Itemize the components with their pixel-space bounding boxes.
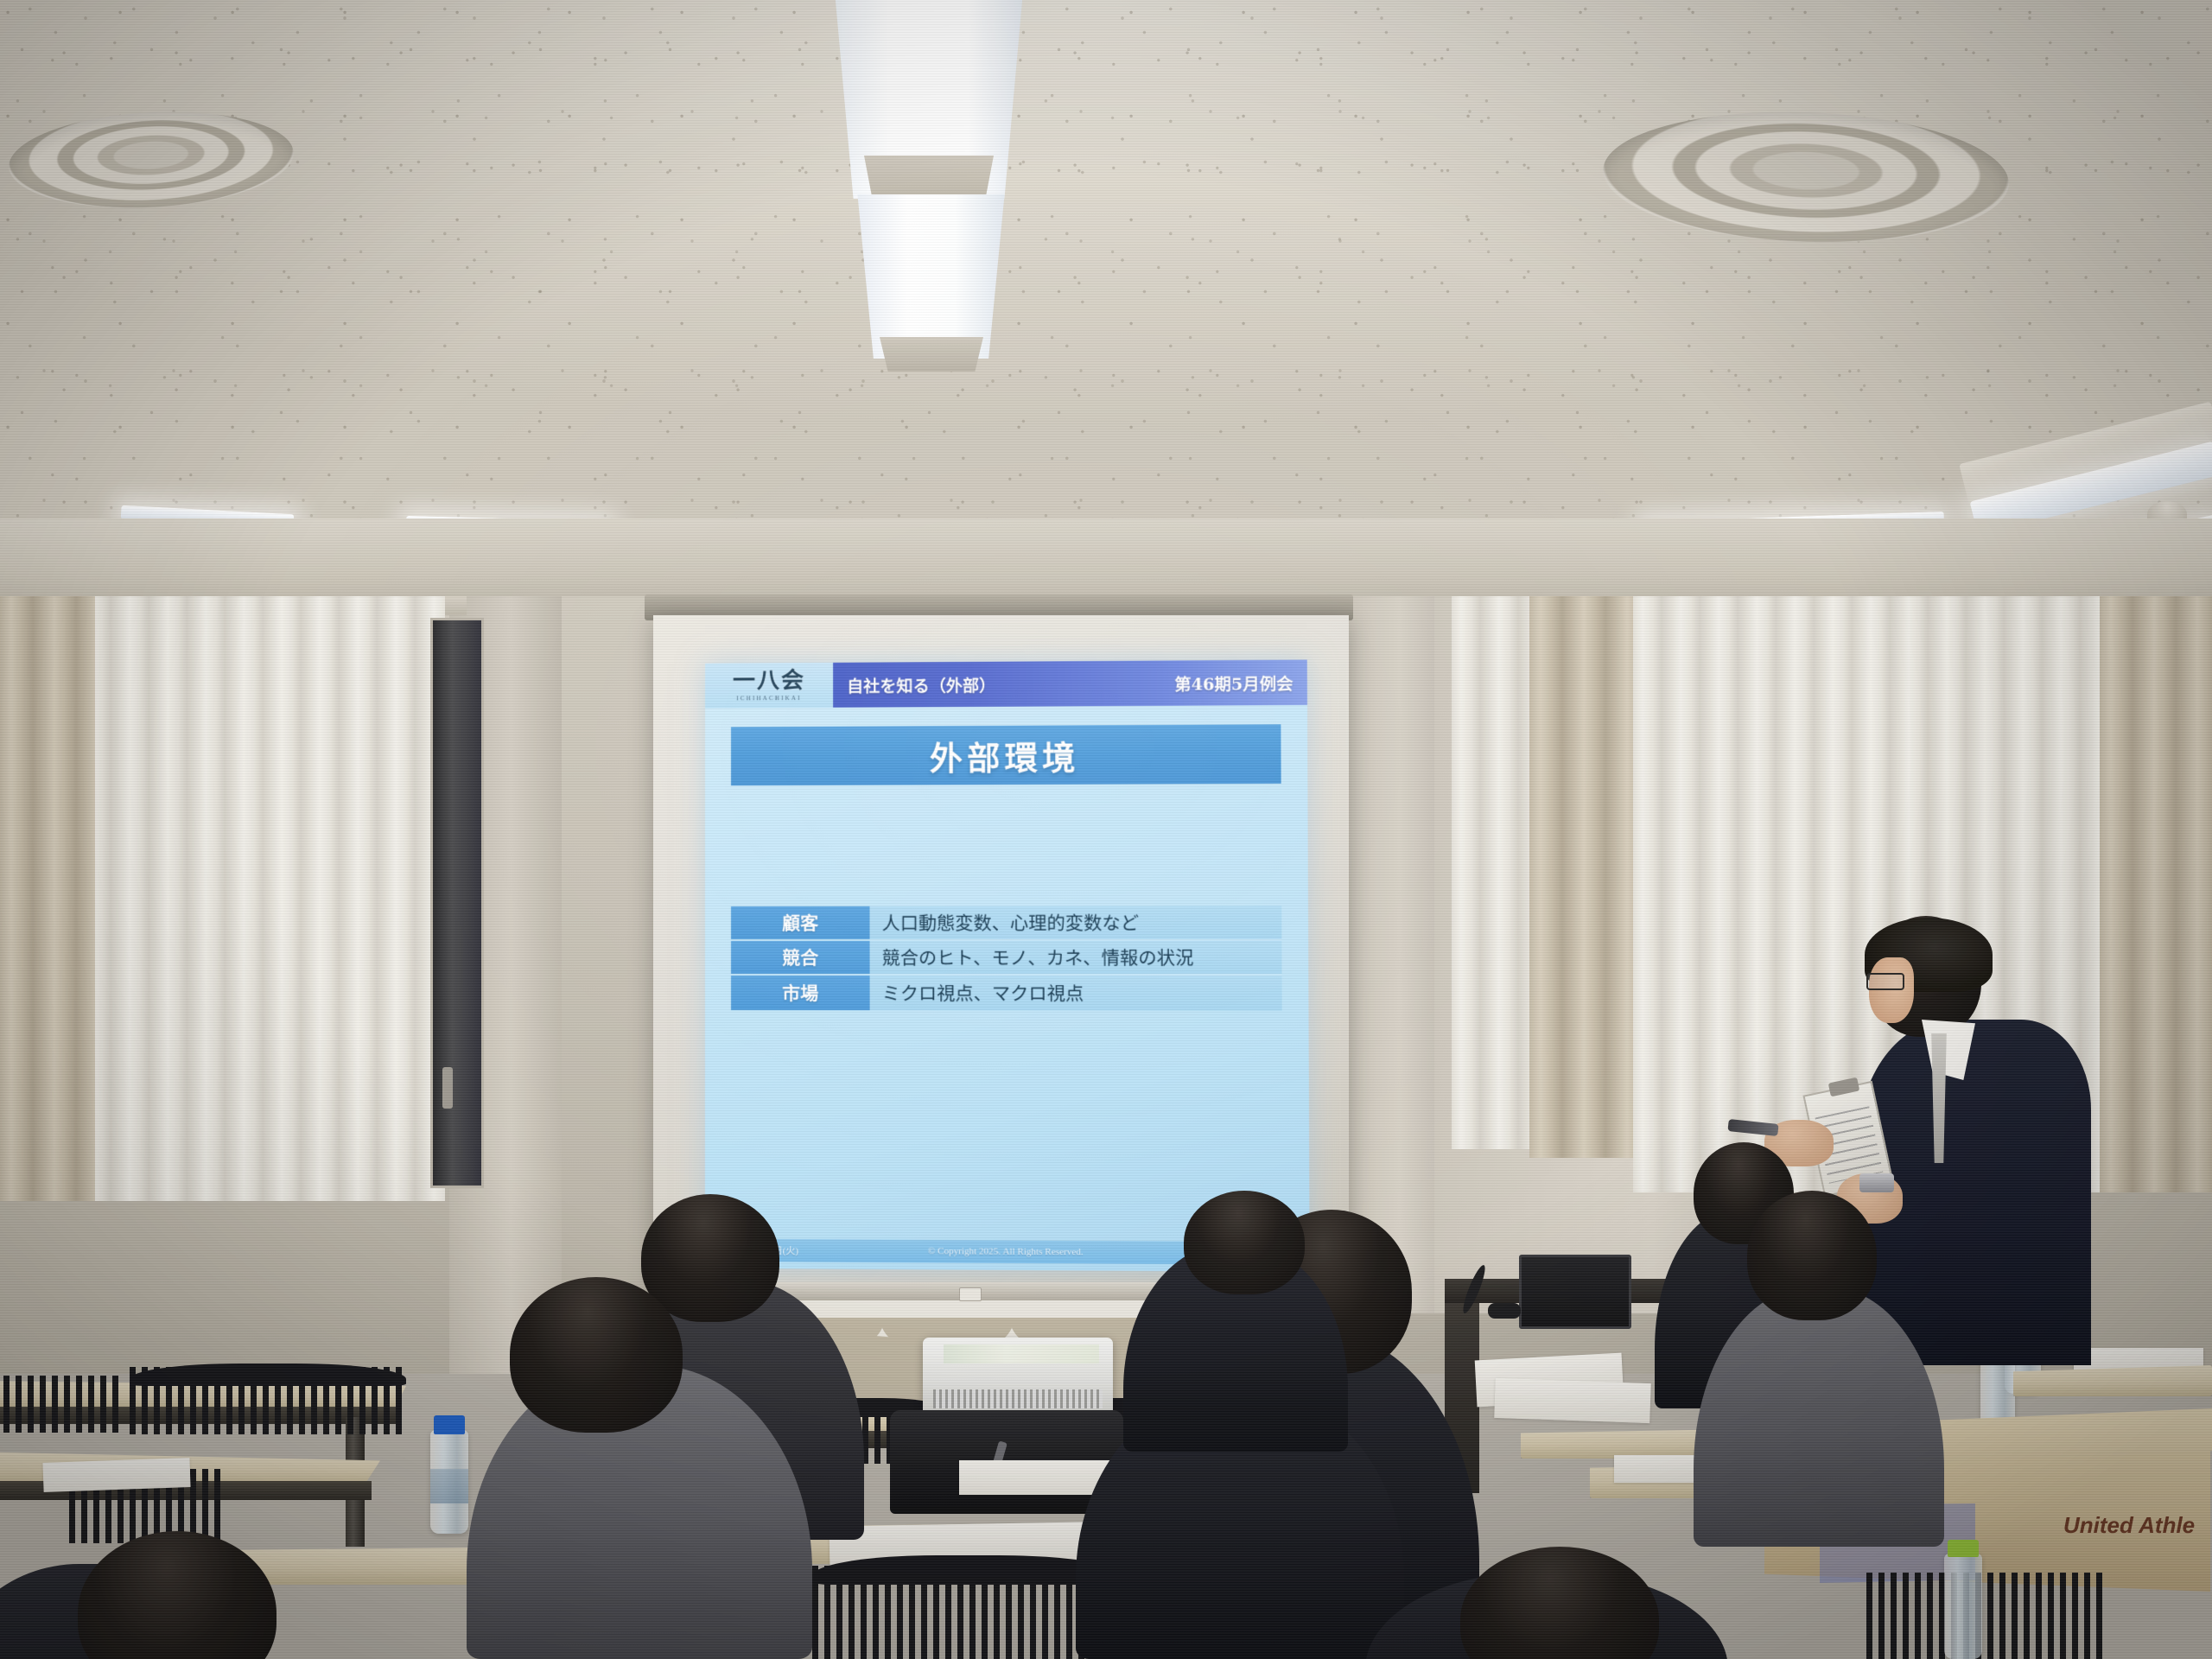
table-row: 市場 ミクロ視点、マクロ視点 (731, 976, 1282, 1011)
chair-left-a[interactable] (0, 1376, 121, 1433)
slide-logo-romaji: ICHIHACHIKAI (736, 695, 801, 702)
curtain-drape-left (0, 596, 95, 1201)
table-cell-key: 顧客 (731, 906, 870, 939)
slide-logo-mark: 一八会 (733, 670, 805, 692)
slide-title: 外部環境 (930, 731, 1080, 779)
chair-right-front[interactable] (1866, 1573, 2108, 1659)
laptop[interactable] (1519, 1255, 1631, 1329)
water-bottle-front-right (1944, 1554, 1982, 1659)
window-left (430, 618, 484, 1188)
slide-header-bar: 自社を知る（外部） 第46期5月例会 (833, 660, 1307, 708)
slide-header-right-label: 第46期5月例会 (1174, 671, 1293, 695)
projected-slide: 一八会 ICHIHACHIKAI 自社を知る（外部） 第46期5月例会 外部環境… (705, 660, 1310, 1273)
wristwatch-icon (1859, 1173, 1894, 1192)
slide-header-left-label: 自社を知る（外部） (847, 672, 995, 696)
chair-left-b-rail (130, 1363, 406, 1386)
slide-title-band: 外部環境 (731, 724, 1281, 785)
slide-table: 顧客 人口動態変数、心理的変数など 競合 競合のヒト、モノ、カネ、情報の状況 市… (731, 906, 1282, 1010)
handout-paper (1494, 1378, 1650, 1423)
bottle-cap-icon (434, 1415, 465, 1434)
projector-vents (933, 1389, 1103, 1408)
wall-outlet-icon (959, 1287, 982, 1301)
curtain-sheer-left (82, 596, 445, 1201)
presenter-face (1869, 957, 1914, 1023)
table-cell-key: 市場 (731, 976, 870, 1010)
table-cell-value: 競合のヒト、モノ、カネ、情報の状況 (870, 941, 1282, 974)
projector-top-panel (944, 1344, 1099, 1363)
bottle-label (430, 1469, 468, 1503)
seminar-room-photo: 一八会 ICHIHACHIKAI 自社を知る（外部） 第46期5月例会 外部環境… (0, 0, 2212, 1659)
attendee-right-2-head (1747, 1191, 1877, 1320)
slide-header: 一八会 ICHIHACHIKAI 自社を知る（外部） 第46期5月例会 (705, 660, 1307, 709)
curtain-drape-right-inner (1529, 596, 1633, 1158)
handout-paper (42, 1458, 190, 1492)
attendee-mid-left-head (641, 1194, 779, 1322)
attendee-bottom-center-head (1460, 1547, 1659, 1659)
table-row: 顧客 人口動態変数、心理的変数など (731, 906, 1281, 941)
window-handle-icon[interactable] (442, 1067, 453, 1109)
curtain-drape-right-outer (2100, 596, 2212, 1192)
box-brand-text: United Athle (2063, 1512, 2195, 1539)
slide-logo: 一八会 ICHIHACHIKAI (705, 663, 833, 709)
microphone-base-icon (1488, 1303, 1521, 1319)
attendee-front-left-2-head (510, 1277, 683, 1433)
table-cell-key: 競合 (731, 941, 870, 974)
light-housing-center-lower (880, 337, 983, 372)
table-cell-value: ミクロ視点、マクロ視点 (870, 976, 1282, 1011)
table-row: 競合 競合のヒト、モノ、カネ、情報の状況 (731, 941, 1282, 976)
fluorescent-tube-center-lower (851, 194, 1011, 359)
attendee-mid-center-head (1184, 1191, 1305, 1294)
eyeglasses-icon (1866, 973, 1904, 990)
table-cell-value: 人口動態変数、心理的変数など (870, 906, 1282, 939)
bottle-cap-icon (1948, 1540, 1979, 1557)
